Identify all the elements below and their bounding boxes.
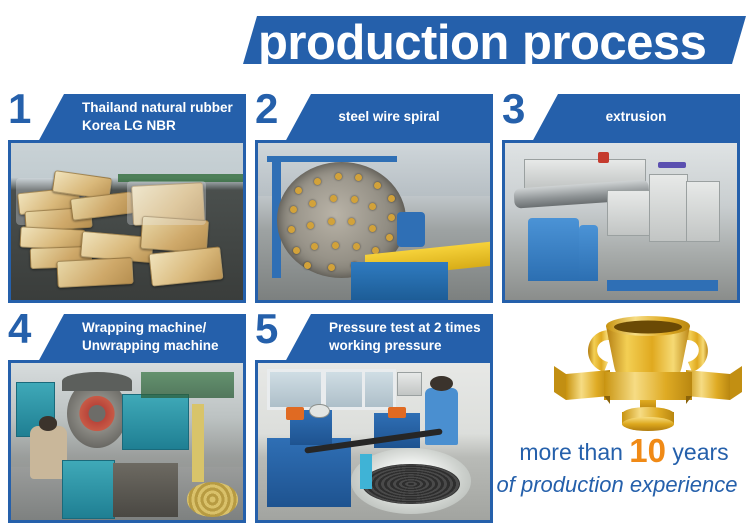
step-photo-4 xyxy=(8,360,246,523)
page-header: production process xyxy=(0,0,750,90)
slogan-suffix: years xyxy=(672,439,728,465)
slogan-years-number: 10 xyxy=(629,432,666,469)
step-caption-2: steel wire spiral xyxy=(285,94,493,142)
process-step-3: 3 extrusion xyxy=(502,88,740,303)
trophy-icon xyxy=(548,300,748,435)
step-caption-4: Wrapping machine/ Unwrapping machine xyxy=(38,314,246,362)
step-caption-3-line-1: extrusion xyxy=(532,108,740,126)
step-caption-5-line-2: working pressure xyxy=(329,337,487,355)
step-photo-1 xyxy=(8,140,246,303)
step-caption-1: Thailand natural rubber Korea LG NBR xyxy=(38,94,246,142)
step-number-1: 1 xyxy=(8,88,42,130)
process-step-1: 1 Thailand natural rubber Korea LG NBR xyxy=(8,88,246,303)
page-title: production process xyxy=(258,8,748,80)
step-caption-5: Pressure test at 2 times working pressur… xyxy=(285,314,493,362)
award-block xyxy=(548,300,748,435)
step-number-2: 2 xyxy=(255,88,289,130)
step-caption-3: extrusion xyxy=(532,94,740,142)
award-slogan-line-2: of production experience xyxy=(486,472,748,506)
step-caption-2-line-1: steel wire spiral xyxy=(285,108,493,126)
step-photo-2 xyxy=(255,140,493,303)
step-number-4: 4 xyxy=(8,308,42,350)
step-caption-5-line-1: Pressure test at 2 times xyxy=(329,319,487,337)
process-step-2: 2 steel wire spiral xyxy=(255,88,493,303)
slogan-prefix: more than xyxy=(519,439,623,465)
step-photo-3 xyxy=(502,140,740,303)
award-slogan-line-1: more than 10 years xyxy=(500,432,748,466)
step-caption-1-line-2: Korea LG NBR xyxy=(82,117,240,135)
process-step-5: 5 Pressure test at 2 times working press… xyxy=(255,308,493,523)
step-photo-5 xyxy=(255,360,493,523)
step-caption-4-line-2: Unwrapping machine xyxy=(82,337,240,355)
step-caption-1-line-1: Thailand natural rubber xyxy=(82,99,240,117)
step-caption-4-line-1: Wrapping machine/ xyxy=(82,319,240,337)
step-number-3: 3 xyxy=(502,88,536,130)
step-number-5: 5 xyxy=(255,308,289,350)
process-step-4: 4 Wrapping machine/ Unwrapping machine xyxy=(8,308,246,523)
